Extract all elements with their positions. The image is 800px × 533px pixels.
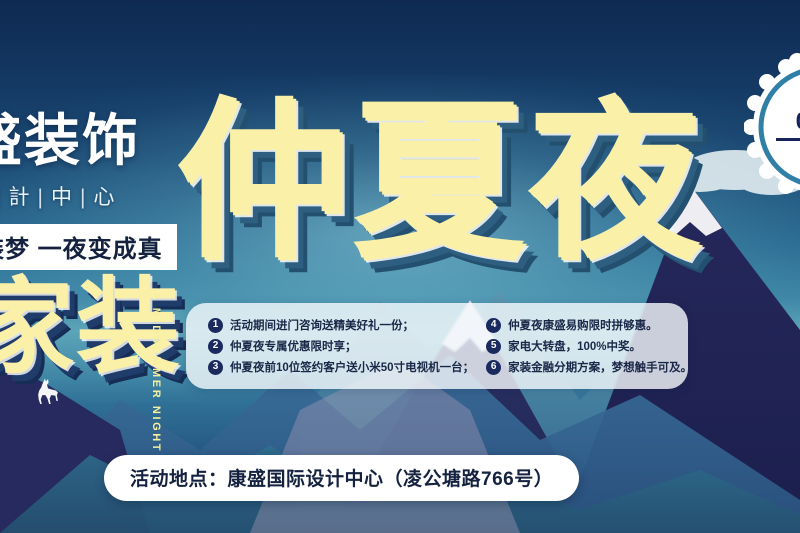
offer-item: 1 活动期间进门咨询送精美好礼一份；: [208, 317, 474, 333]
offer-number-icon: 5: [486, 339, 501, 354]
offer-item: 3 仲夏夜前10位签约客户送小米50寸电视机一台；: [208, 359, 474, 375]
offers-column-left: 1 活动期间进门咨询送精美好礼一份； 2 仲夏夜专属优惠限时享； 3 仲夏夜前1…: [190, 317, 474, 375]
offers-column-right: 4 仲夏夜康盛易购限时拼够惠。 5 家电大转盘，100%中奖。 6 家装金融分期…: [474, 317, 692, 375]
address-banner: 活动地点：康盛国际设计中心（凌公塘路766号）: [104, 455, 579, 501]
offers-panel: 1 活动期间进门咨询送精美好礼一份； 2 仲夏夜专属优惠限时享； 3 仲夏夜前1…: [186, 303, 688, 389]
badge-divider: [776, 138, 800, 141]
offer-number-icon: 2: [208, 339, 223, 354]
offer-text: 仲夏夜康盛易购限时拼够惠。: [508, 317, 658, 333]
offer-text: 仲夏夜前10位签约客户送小米50寸电视机一台；: [230, 359, 474, 375]
promo-poster: 盛装饰 設|計|中|心 装梦 一夜变成真 仲夏夜 家装 A MIDSUMMER …: [0, 0, 800, 533]
offer-item: 2 仲夏夜专属优惠限时享；: [208, 338, 474, 354]
offer-text: 仲夏夜专属优惠限时享；: [230, 338, 357, 354]
offer-text: 家电大转盘，100%中奖。: [508, 338, 641, 354]
date-badge: X 08/2 18:: [744, 52, 800, 202]
offer-text: 家装金融分期方案，梦想触手可及。: [508, 359, 692, 375]
tagline-text: 装梦 一夜变成真: [0, 229, 163, 264]
badge-date: 08/2: [796, 108, 800, 136]
brand-subtitle: 設|計|中|心: [0, 181, 196, 211]
offer-number-icon: 1: [208, 318, 223, 333]
brand-sub-part-1: 計: [8, 186, 30, 209]
offer-item: 4 仲夏夜康盛易购限时拼够惠。: [486, 317, 692, 333]
offer-item: 6 家装金融分期方案，梦想触手可及。: [486, 359, 692, 375]
brand-sub-part-3: 心: [93, 186, 115, 209]
brand-name: 盛装饰: [0, 112, 196, 169]
offer-item: 5 家电大转盘，100%中奖。: [486, 338, 692, 354]
vertical-english-text: A MIDSUMMER NIGHT: [150, 292, 162, 453]
brand-logo-block: 盛装饰 設|計|中|心 装梦 一夜变成真: [0, 112, 196, 270]
brand-sub-sep-2: |: [73, 186, 93, 209]
headline-main: 仲夏夜: [176, 96, 704, 268]
brand-sub-part-2: 中: [51, 186, 73, 209]
tagline-banner: 装梦 一夜变成真: [0, 224, 177, 270]
address-text: 活动地点：康盛国际设计中心（凌公塘路766号）: [130, 464, 553, 491]
offer-number-icon: 4: [486, 318, 501, 333]
offer-number-icon: 6: [486, 360, 501, 375]
offer-text: 活动期间进门咨询送精美好礼一份；: [230, 317, 414, 333]
brand-sub-sep-1: |: [30, 186, 50, 209]
offer-number-icon: 3: [208, 360, 223, 375]
